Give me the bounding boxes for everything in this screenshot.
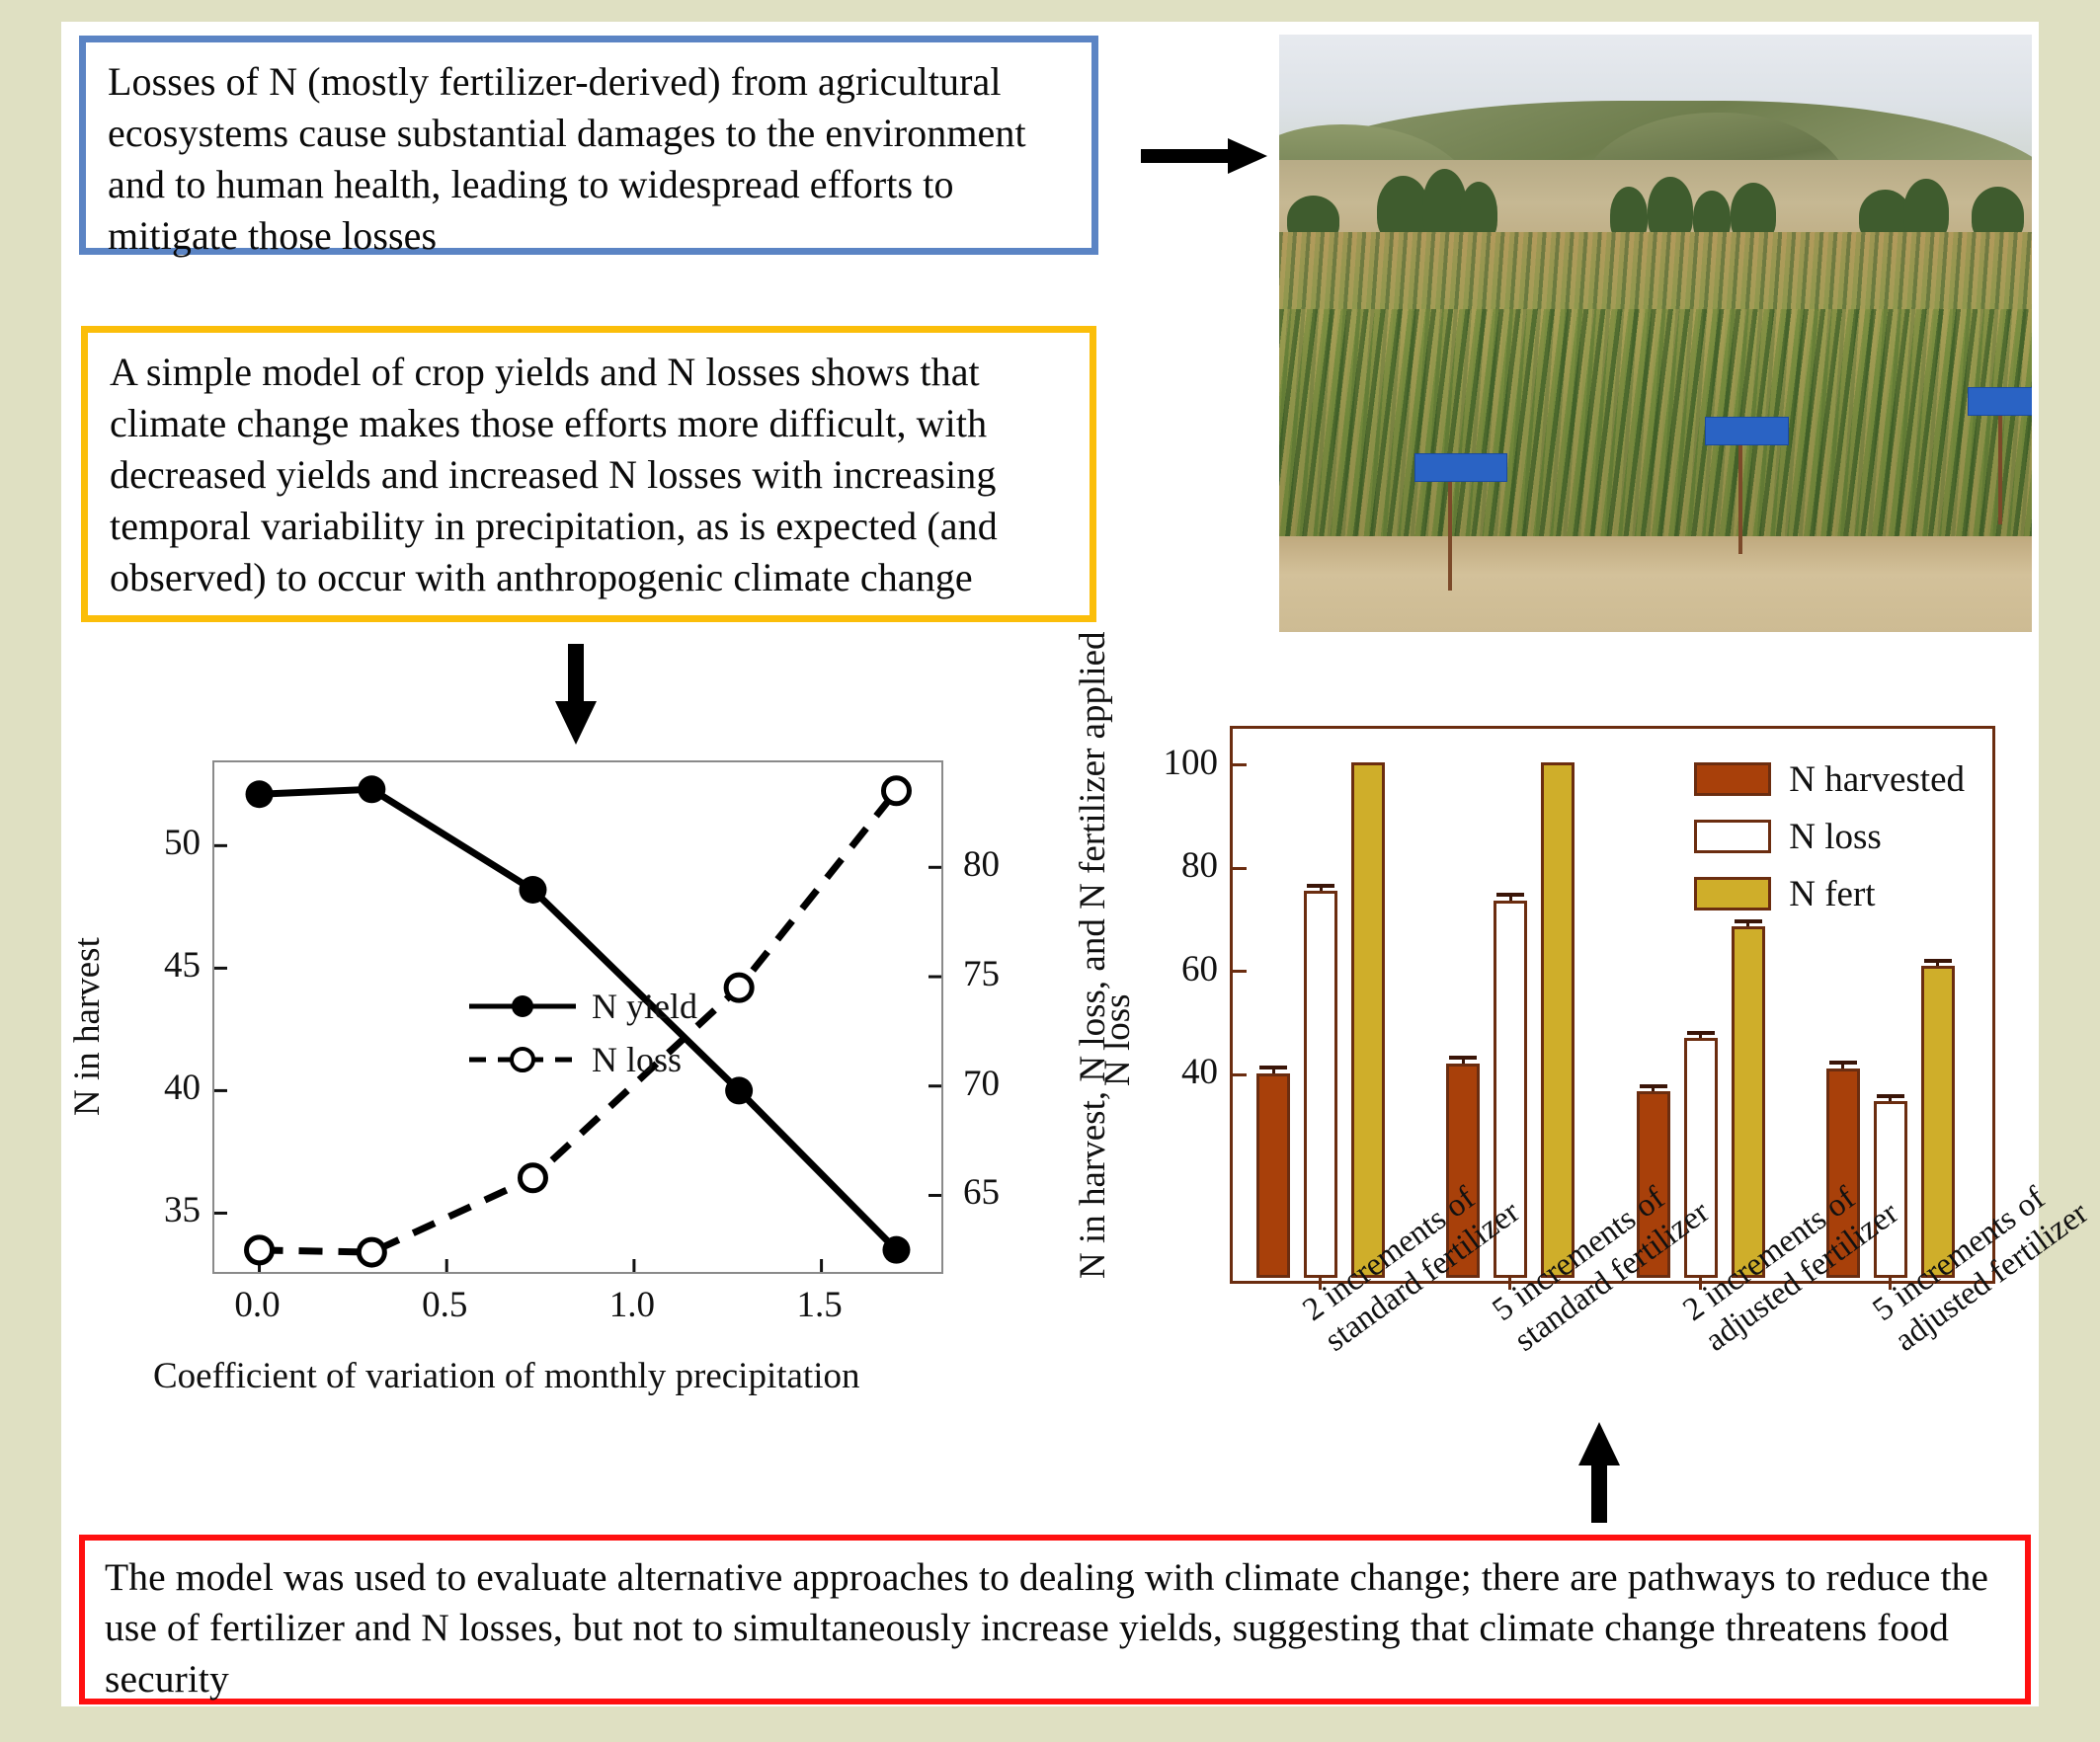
arrow-head xyxy=(1578,1422,1620,1465)
legend-swatch-n-fert xyxy=(1694,877,1771,911)
bar-chart-ytick-mark xyxy=(1233,970,1247,973)
bar-chart-legend: N harvested N loss N fert xyxy=(1694,751,1965,922)
bar-chart-ytick-80: 80 xyxy=(1143,844,1218,887)
bar-group-1 xyxy=(1256,732,1385,1278)
legend-label-n-yield: N yield xyxy=(592,986,697,1027)
bar-chart-ytick-60: 60 xyxy=(1143,948,1218,990)
legend-swatch-n-loss xyxy=(1694,820,1771,853)
line-chart-y2tick-70: 70 xyxy=(963,1063,1000,1105)
error-whisker xyxy=(1936,963,1939,967)
legend-item-n-loss: N loss xyxy=(1694,808,1965,865)
bar-chart-ytick-100: 100 xyxy=(1143,742,1218,784)
maize-field-photo xyxy=(1279,35,2032,632)
bar-chart-ytick-mark xyxy=(1233,867,1247,870)
bar-chart-ytick-mark xyxy=(1233,1073,1247,1076)
legend-swatch-n-harvested xyxy=(1694,762,1771,796)
arrow-head xyxy=(555,701,597,745)
line-chart: N yield N loss N in harvest N loss Coeff… xyxy=(212,760,943,1274)
bar-n-fert-g4 xyxy=(1921,966,1955,1278)
bar-n-harvested-g1 xyxy=(1256,1073,1290,1278)
photo-field-near xyxy=(1279,309,2032,542)
bar-n-fert-g3 xyxy=(1732,926,1765,1278)
error-whisker xyxy=(1699,1035,1702,1038)
line-chart-ytick-35: 35 xyxy=(141,1189,201,1231)
line-chart-legend: N yield N loss xyxy=(467,980,697,1086)
line-chart-ytick-45: 45 xyxy=(141,944,201,987)
legend-label-n-fert: N fert xyxy=(1789,873,1875,915)
legend-label-n-loss: N loss xyxy=(592,1039,682,1080)
arrow-shaft xyxy=(1141,149,1232,163)
photo-bare-ground xyxy=(1279,536,2032,632)
line-chart-y2tick-75: 75 xyxy=(963,953,1000,995)
legend-marker-open-circle xyxy=(467,1045,578,1074)
sign-post xyxy=(1998,405,2002,524)
line-chart-y2tick-80: 80 xyxy=(963,843,1000,886)
bar-chart-ytick-40: 40 xyxy=(1143,1051,1218,1093)
arrow-shaft xyxy=(568,644,584,705)
error-whisker xyxy=(1320,888,1323,892)
legend-item-n-yield: N yield xyxy=(467,980,697,1033)
line-chart-ytick-50: 50 xyxy=(141,822,201,864)
bar-chart: N harvested N loss N fert N in harvest, … xyxy=(1230,726,1995,1284)
callout-blue-problem-statement: Losses of N (mostly fertilizer-derived) … xyxy=(79,36,1098,255)
sign-post xyxy=(1448,471,1452,591)
sign-3 xyxy=(1968,387,2032,416)
arrow-up-to-bar-chart xyxy=(1578,1422,1620,1525)
bar-n-loss-g1 xyxy=(1304,891,1337,1278)
line-chart-x-axis-title: Coefficient of variation of monthly prec… xyxy=(153,1355,859,1397)
arrow-shaft xyxy=(1591,1462,1607,1523)
bar-chart-y-axis-title: N in harvest, N loss, and N fertilizer a… xyxy=(1072,631,1114,1279)
error-whisker xyxy=(1272,1069,1275,1073)
legend-label-n-loss: N loss xyxy=(1789,816,1882,858)
legend-label-n-harvested: N harvested xyxy=(1789,758,1965,801)
line-chart-xtick-0: 0.0 xyxy=(220,1284,295,1326)
legend-item-n-loss: N loss xyxy=(467,1033,697,1086)
sign-2 xyxy=(1705,417,1790,445)
graphical-abstract: Losses of N (mostly fertilizer-derived) … xyxy=(0,0,2100,1742)
line-chart-xtick-0-5: 0.5 xyxy=(407,1284,482,1326)
arrow-right-to-photo xyxy=(1141,138,1271,174)
callout-yellow-model-statement: A simple model of crop yields and N loss… xyxy=(81,326,1096,622)
callout-red-conclusion-statement: The model was used to evaluate alternati… xyxy=(79,1535,2031,1704)
error-whisker xyxy=(1841,1065,1844,1069)
error-whisker xyxy=(1652,1088,1655,1091)
line-chart-y-axis-title: N in harvest xyxy=(66,937,109,1116)
error-whisker xyxy=(1889,1098,1892,1101)
legend-marker-filled-circle xyxy=(467,991,578,1021)
error-whisker xyxy=(1509,897,1512,900)
line-chart-xtick-1-5: 1.5 xyxy=(782,1284,857,1326)
sign-1 xyxy=(1414,453,1506,482)
line-chart-y2tick-65: 65 xyxy=(963,1171,1000,1214)
line-chart-xtick-1: 1.0 xyxy=(595,1284,670,1326)
sign-post xyxy=(1738,435,1742,554)
arrow-down-to-line-chart xyxy=(555,644,597,747)
legend-item-n-fert: N fert xyxy=(1694,865,1965,922)
error-whisker xyxy=(1746,923,1749,926)
error-whisker xyxy=(1462,1060,1465,1064)
arrow-head xyxy=(1228,138,1267,174)
bar-chart-ytick-mark xyxy=(1233,763,1247,766)
bar-n-fert-g1 xyxy=(1351,762,1385,1278)
legend-item-n-harvested: N harvested xyxy=(1694,751,1965,808)
bar-n-fert-g2 xyxy=(1541,762,1575,1278)
line-chart-ytick-40: 40 xyxy=(141,1067,201,1109)
